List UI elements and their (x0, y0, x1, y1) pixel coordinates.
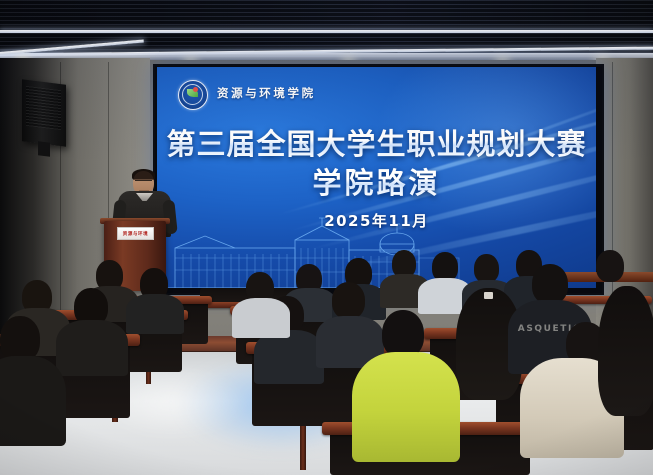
speaker-glasses-icon (135, 180, 152, 185)
audience-head-c2 (332, 282, 365, 319)
audience-torso-l4 (56, 320, 128, 376)
presentation-title-line1: 第三届全国大学生职业规划大赛 (157, 121, 596, 163)
audience-head-r1 (596, 250, 624, 282)
loudspeaker-bracket (38, 141, 50, 156)
college-name-label: 资源与环境学院 (217, 85, 316, 101)
audience-torso-white-shirt (232, 298, 290, 338)
audience-torso-l2 (126, 294, 184, 334)
seat-center-leg-2 (300, 426, 306, 470)
audience-torso-c1 (254, 330, 324, 384)
audience-head-yellow-jacket (382, 310, 424, 358)
loudspeaker-grille (26, 86, 61, 130)
audience-torso-yellow-jacket (352, 352, 460, 462)
audience-head-b5 (474, 254, 499, 283)
audience-torso-l5 (0, 356, 66, 446)
audience-hairclip-icon (484, 292, 493, 299)
audience-longhair-right (598, 286, 653, 416)
ceiling-slat-band-upper (0, 0, 653, 30)
presentation-date: 2025年11月 (157, 210, 596, 231)
emblem-dot-icon (193, 87, 198, 92)
podium-sign-text: 资源与环境 (123, 231, 149, 237)
podium-name-sign: 资源与环境 (117, 227, 154, 240)
audience-head-hoodie (532, 264, 568, 304)
lecture-hall-photo: 资源与环境学院 (0, 0, 653, 475)
presentation-title-line2: 学院路演 (157, 160, 596, 202)
college-emblem (178, 80, 208, 110)
